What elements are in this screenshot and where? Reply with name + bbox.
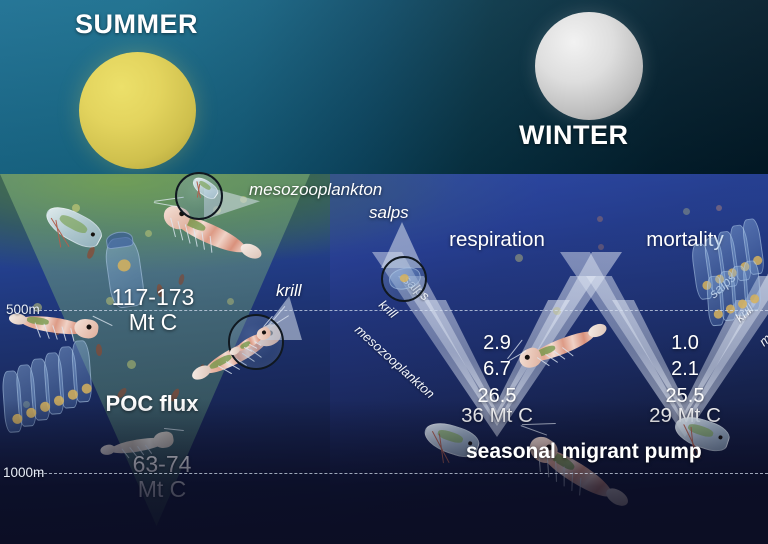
poc-upper-unit: Mt C — [63, 310, 243, 335]
moon-icon — [535, 12, 643, 120]
sun-icon — [79, 52, 196, 169]
mortality-values: 1.0 2.1 25.5 — [560, 330, 768, 409]
mesozooplankton-magnifier — [175, 172, 223, 220]
salps-magnifier — [381, 256, 427, 302]
seasonal-migrant-pump-label: seasonal migrant pump — [466, 440, 702, 464]
poc-upper-number: 117-173 — [63, 285, 243, 310]
label-salps: salps — [369, 203, 409, 223]
depth-line-1000m — [34, 473, 768, 474]
label-krill: krill — [276, 281, 302, 301]
poc-lower-unit: Mt C — [72, 477, 252, 502]
label-mesozooplankton: mesozooplankton — [249, 180, 382, 200]
poc-flux-title: POC flux — [62, 392, 242, 416]
poc-flux-lower-value: 63-74 Mt C — [72, 452, 252, 502]
mortality-total: 29 Mt C — [560, 404, 768, 428]
infographic-canvas: SUMMER WINTER respiration 2.9 6.7 26.5 3… — [0, 0, 768, 544]
summer-label: SUMMER — [75, 9, 198, 40]
winter-label: WINTER — [519, 120, 628, 151]
depth-label-1000m: 1000m — [3, 465, 44, 480]
depth-label-500m: 500m — [6, 302, 40, 317]
depth-line-500m — [34, 310, 768, 311]
mortality-value-krill: 2.1 — [560, 356, 768, 382]
